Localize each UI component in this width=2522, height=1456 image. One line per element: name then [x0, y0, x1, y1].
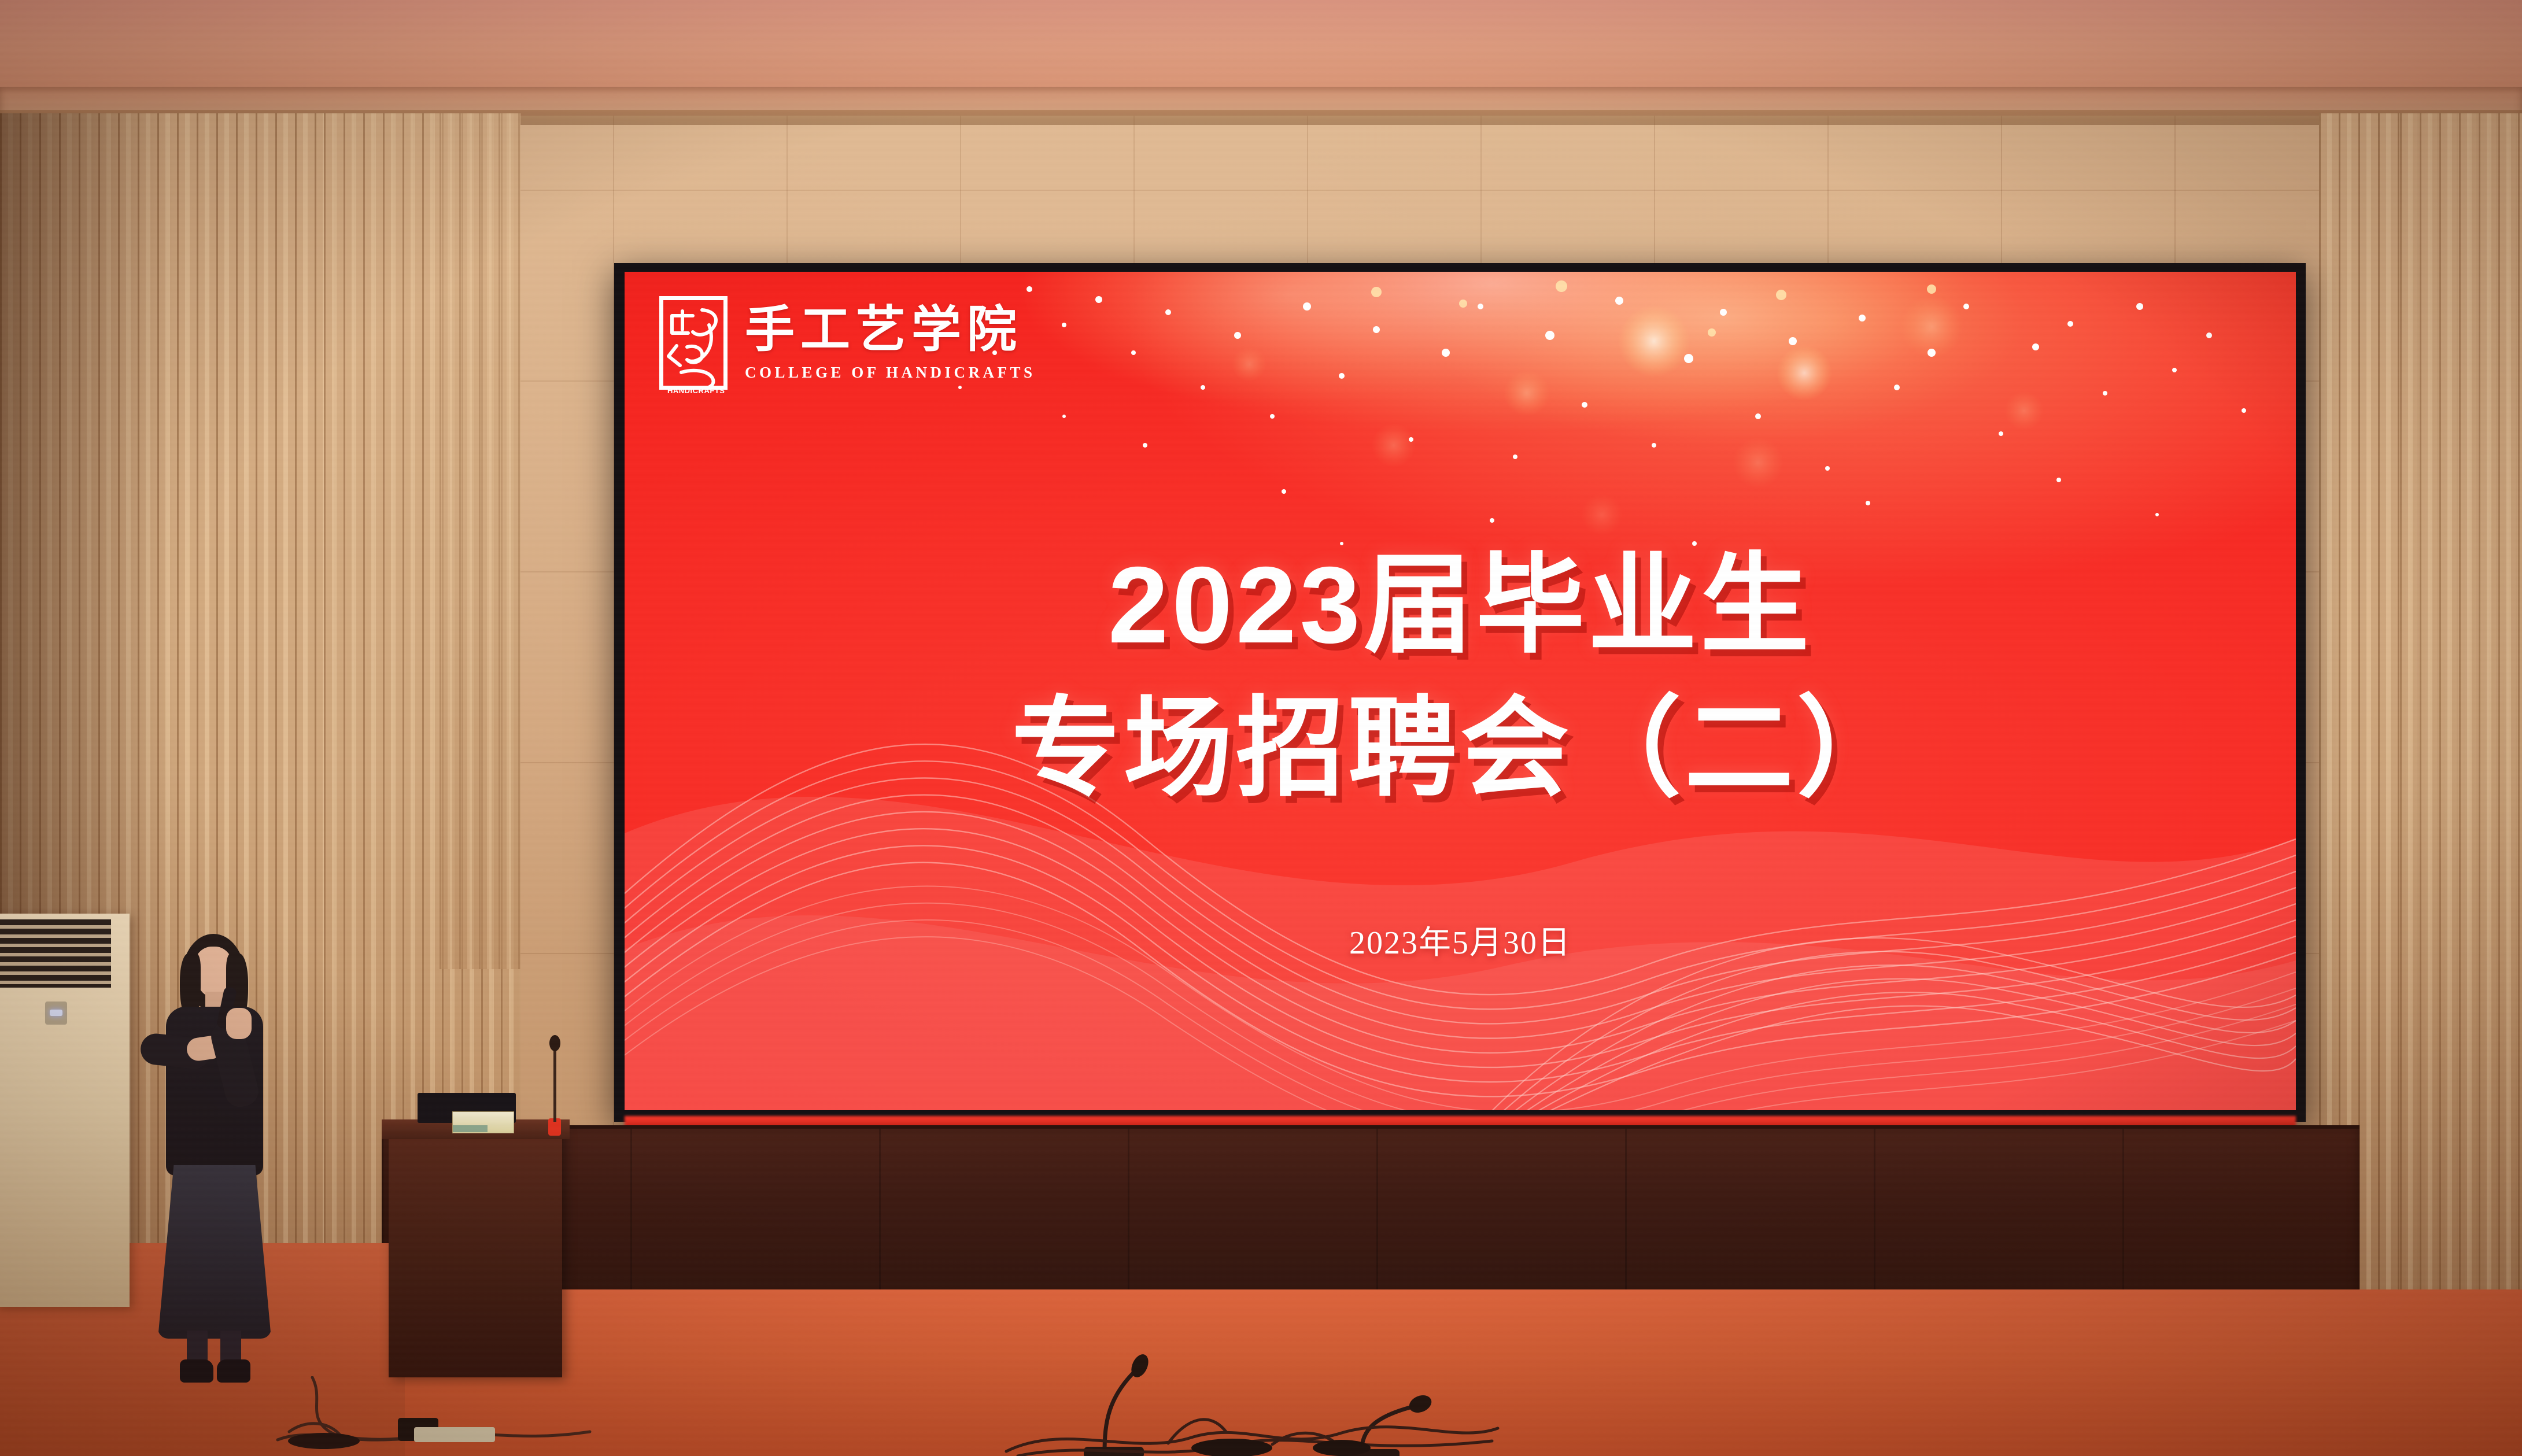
- logo-name-en: COLLEGE OF HANDICRAFTS: [745, 364, 1036, 382]
- svg-text:HANDICRAFTS: HANDICRAFTS: [667, 386, 725, 395]
- podium: [389, 1129, 562, 1377]
- cable-svg: [983, 1388, 1504, 1456]
- presenter-skirt: [158, 1165, 271, 1339]
- air-conditioner-grille-icon: [0, 919, 111, 988]
- presenter-hand-right: [226, 1008, 252, 1039]
- seal-strokes-icon: HANDICRAFTS: [659, 296, 736, 398]
- handicrafts-seal-icon: HANDICRAFTS: [659, 296, 728, 390]
- logo-name-cn: 手工艺学院: [745, 305, 1036, 354]
- power-strip: [414, 1427, 495, 1442]
- curtain-left-edge: [440, 113, 520, 969]
- podium-gooseneck-mic-stem: [553, 1041, 556, 1122]
- title-line-1: 2023届毕业生: [625, 533, 2296, 677]
- podium-gooseneck-mic-head: [549, 1035, 560, 1051]
- name-card-strip: [453, 1125, 488, 1132]
- slide-date: 2023年5月30日: [625, 917, 2296, 963]
- college-logo: HANDICRAFTS 手工艺学院 COLLEGE OF HANDICRAFTS: [659, 296, 1036, 390]
- logo-text-block: 手工艺学院 COLLEGE OF HANDICRAFTS: [745, 305, 1036, 382]
- stage-cables: [983, 1388, 1504, 1456]
- led-screen[interactable]: HANDICRAFTS 手工艺学院 COLLEGE OF HANDICRAFTS…: [625, 272, 2296, 1110]
- auditorium-scene: HANDICRAFTS 手工艺学院 COLLEGE OF HANDICRAFTS…: [0, 0, 2522, 1456]
- presenter-shoe-left: [180, 1359, 213, 1383]
- air-conditioner-display: [45, 1002, 67, 1025]
- curtain-right-outer: [2400, 113, 2522, 1316]
- slide-title: 2023届毕业生 专场招聘会（二）: [625, 533, 2296, 820]
- presenter: [124, 934, 298, 1391]
- title-line-2: 专场招聘会（二）: [625, 677, 2296, 820]
